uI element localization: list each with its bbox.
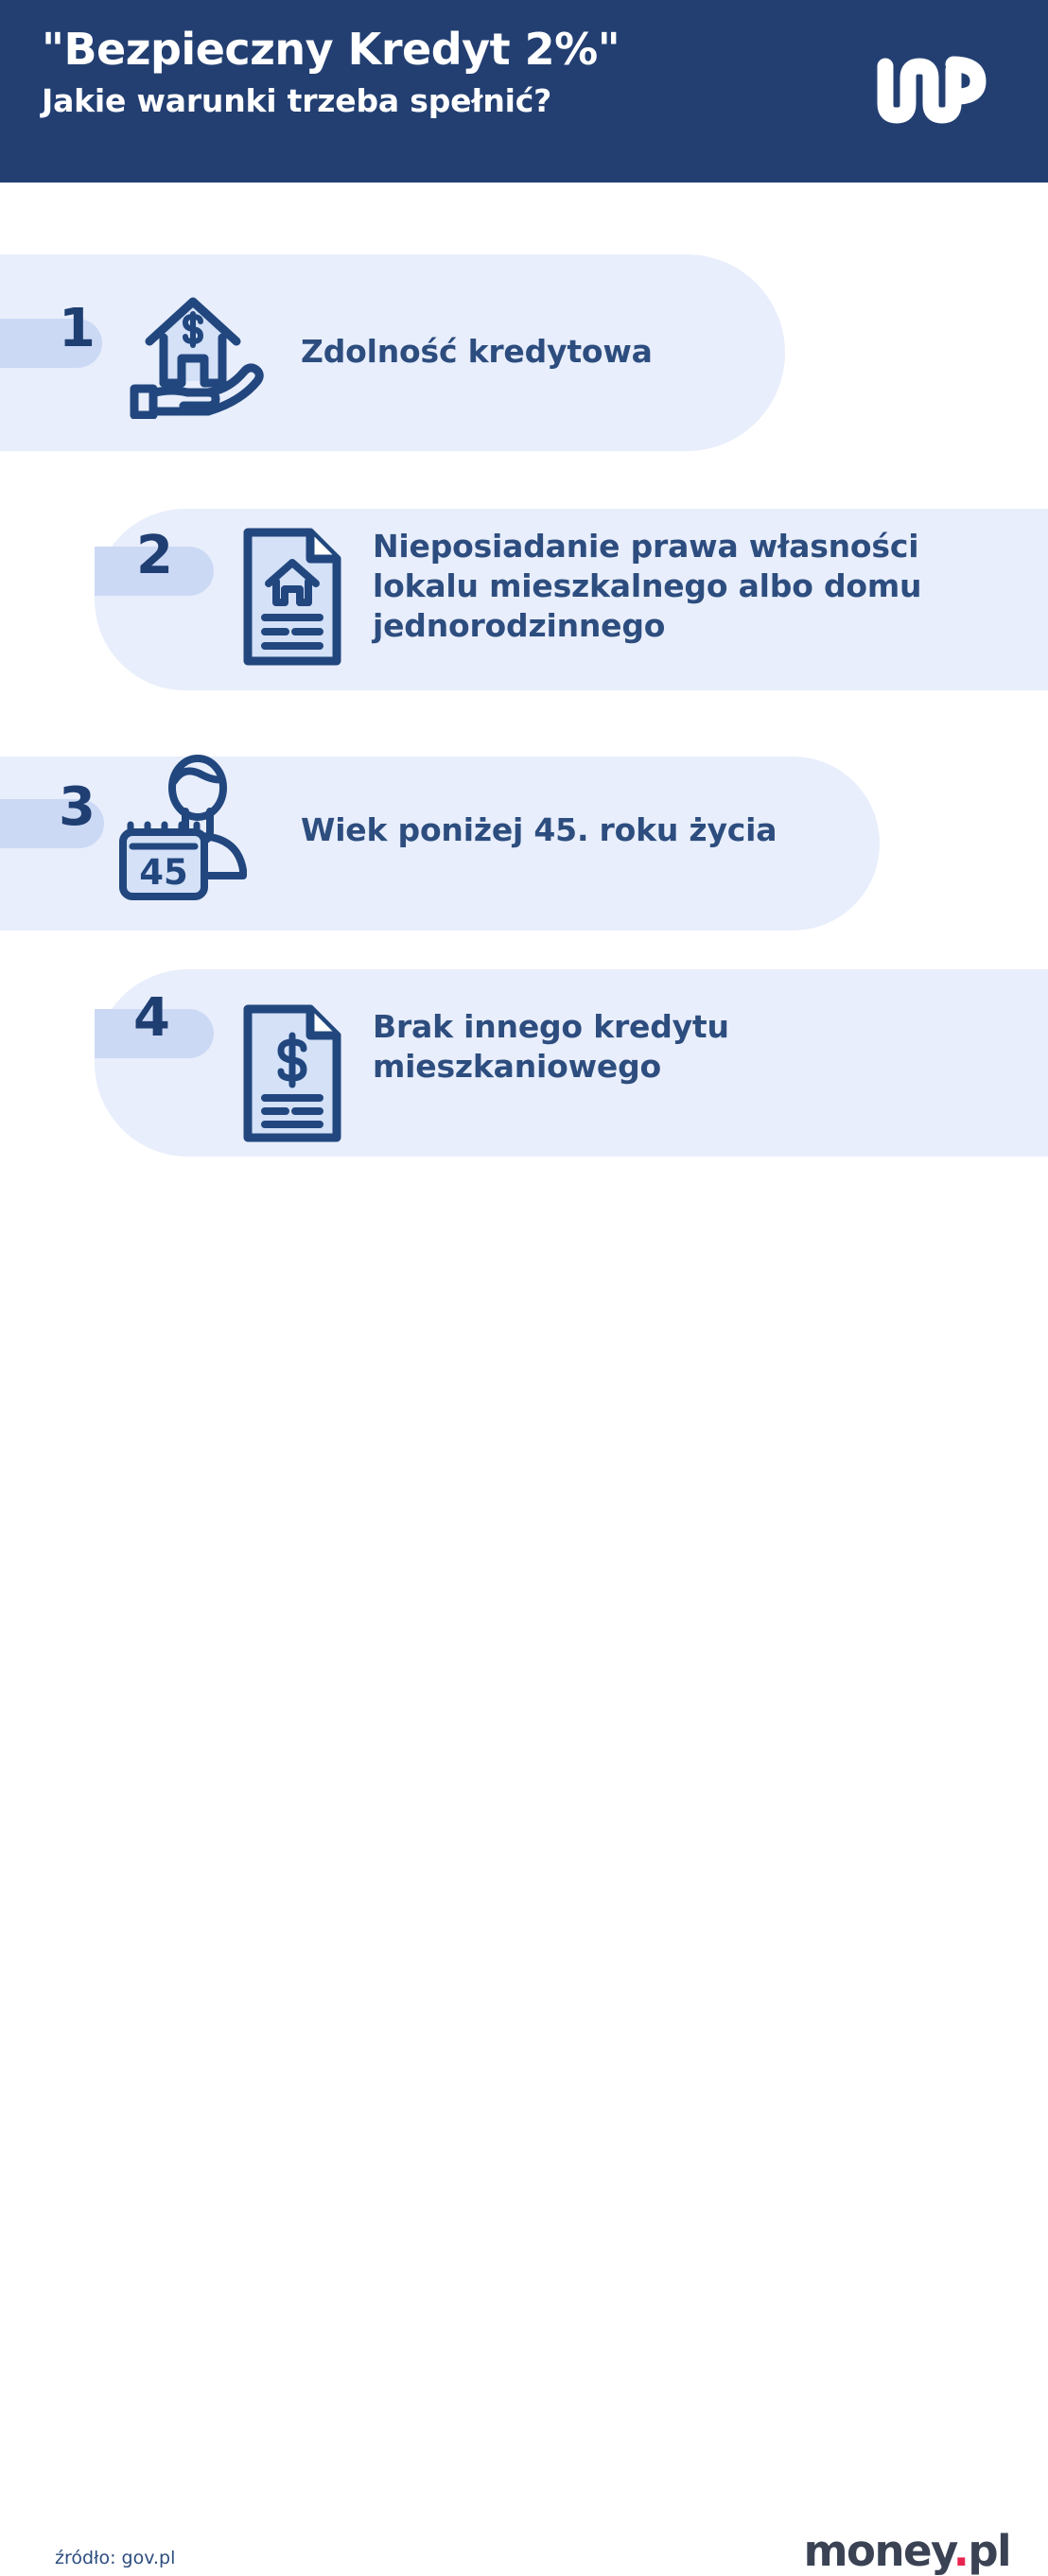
moneypl-dot: . — [953, 2526, 969, 2576]
item-label-4: Brak innego kredytu mieszkaniowego — [373, 1007, 846, 1087]
header-title-group: "Bezpieczny Kredyt 2%" Jakie warunki trz… — [42, 21, 620, 123]
house-with-dollar-on-hand-icon — [117, 279, 269, 419]
person-with-calendar-45-icon: 45 — [110, 755, 280, 906]
item-number-3: 3 — [59, 781, 96, 834]
document-with-house-icon — [236, 525, 348, 669]
moneypl-logo: money.pl — [804, 2530, 1010, 2572]
source-note: źródło: gov.pl — [55, 2548, 175, 2568]
page-title: "Bezpieczny Kredyt 2%" — [42, 21, 620, 78]
footer: źródło: gov.pl money.pl — [0, 1242, 1048, 1362]
moneypl-brand: money — [804, 2526, 953, 2576]
item-label-3: Wiek poniżej 45. roku życia — [301, 810, 868, 850]
item-number-2: 2 — [136, 530, 173, 583]
document-with-dollar-icon — [236, 1001, 348, 1145]
item-number-1: 1 — [59, 303, 96, 356]
item-label-1: Zdolność kredytowa — [301, 332, 793, 372]
page-subtitle: Jakie warunki trzeba spełnić? — [42, 79, 620, 123]
header-banner: "Bezpieczny Kredyt 2%" Jakie warunki trz… — [0, 0, 1048, 183]
item-label-2: Nieposiadanie prawa własności lokalu mie… — [373, 527, 969, 646]
wp-logo-icon — [874, 45, 993, 132]
item-number-4: 4 — [133, 992, 170, 1045]
moneypl-tld: pl — [968, 2526, 1010, 2576]
calendar-number-label: 45 — [139, 852, 188, 893]
conditions-list: 1 Zdolność kredytowa — [0, 183, 1048, 1242]
